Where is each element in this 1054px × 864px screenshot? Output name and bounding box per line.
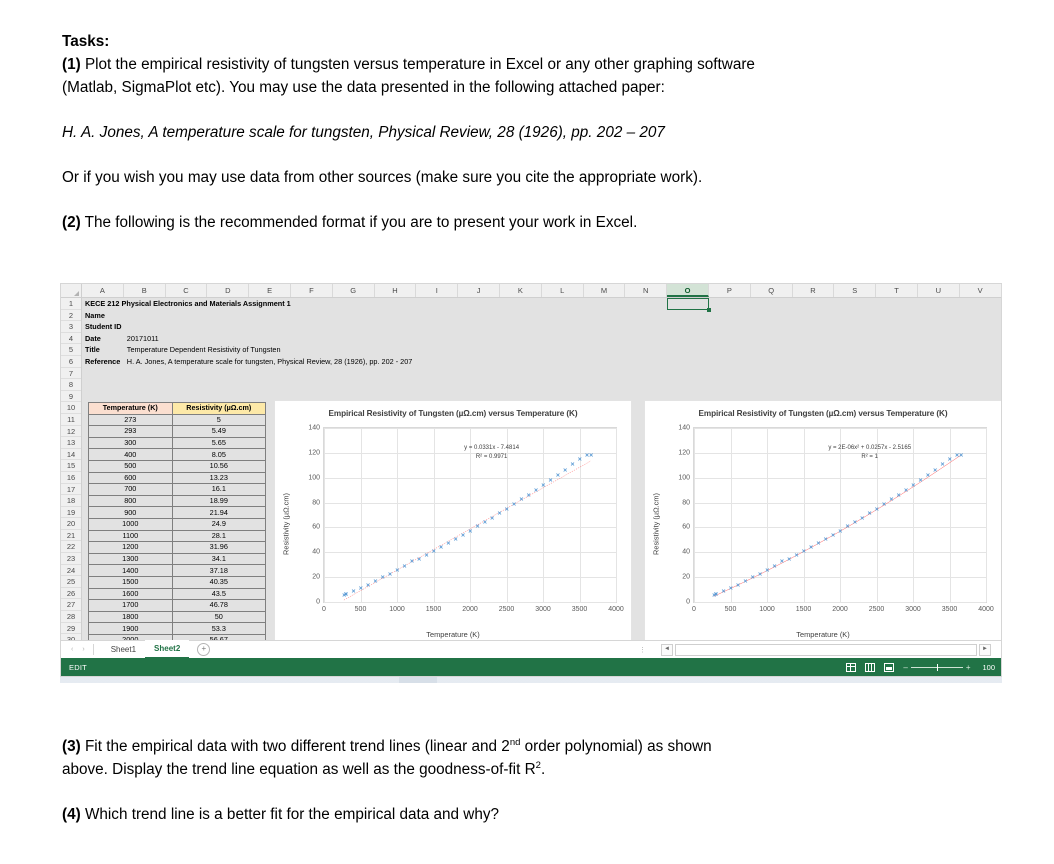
data-point: ✕ xyxy=(395,569,399,573)
column-header-r[interactable]: R xyxy=(793,284,835,297)
data-point: ✕ xyxy=(896,494,900,498)
cell-resistivity[interactable]: 43.5 xyxy=(172,588,265,600)
data-point: ✕ xyxy=(432,550,436,554)
grid-wrapper[interactable]: 1234567891011121314151617181920212223242… xyxy=(61,298,1001,647)
task-2-label: (2) xyxy=(62,214,81,231)
data-point: ✕ xyxy=(439,546,443,550)
cell-resistivity[interactable]: 28.1 xyxy=(172,530,265,542)
chart-polynomial-title: Empirical Resistivity of Tungsten (µΩ.cm… xyxy=(645,409,1001,418)
data-point: ✕ xyxy=(351,590,355,594)
row-header-21[interactable]: 21 xyxy=(61,530,81,542)
cell-resistivity[interactable]: 16.1 xyxy=(172,484,265,496)
alt-sources-note: Or if you wish you may use data from oth… xyxy=(62,166,1002,189)
data-point: ✕ xyxy=(410,560,414,564)
cell-temperature[interactable]: 293 xyxy=(89,426,173,438)
data-point: ✕ xyxy=(344,593,348,597)
data-point: ✕ xyxy=(853,521,857,525)
y-axis-tick: 100 xyxy=(308,474,320,481)
data-point: ✕ xyxy=(366,584,370,588)
data-point: ✕ xyxy=(889,498,893,502)
page-layout-view-icon[interactable] xyxy=(865,663,875,672)
zoom-out-icon[interactable]: – xyxy=(903,663,907,672)
sheet-tab-sheet2[interactable]: Sheet2 xyxy=(145,640,189,659)
task-1-paragraph: (1) Plot the empirical resistivity of tu… xyxy=(62,53,1002,76)
status-mode-text: EDIT xyxy=(69,663,87,672)
chart-polynomial-plot-area: 0204060801001201400500100015002000250030… xyxy=(693,427,987,603)
data-point: ✕ xyxy=(772,565,776,569)
table-row[interactable]: 160043.5 xyxy=(89,588,266,600)
cell-resistivity[interactable]: 37.18 xyxy=(172,565,265,577)
y-axis-tick: 40 xyxy=(312,549,320,556)
y-axis-tick: 140 xyxy=(678,425,690,432)
sheet-tab-sheet1[interactable]: Sheet1 xyxy=(102,641,145,658)
row-header-3[interactable]: 3 xyxy=(61,321,81,333)
column-header-j[interactable]: J xyxy=(458,284,500,297)
table-row[interactable]: 2735 xyxy=(89,414,266,426)
data-point: ✕ xyxy=(519,498,523,502)
column-header-i[interactable]: I xyxy=(416,284,458,297)
worksheet-grid[interactable]: KECE 212 Physical Electronics and Materi… xyxy=(82,298,1001,647)
data-point: ✕ xyxy=(388,573,392,577)
row-header-14[interactable]: 14 xyxy=(61,449,81,461)
x-axis-tick: 500 xyxy=(725,606,737,613)
data-point: ✕ xyxy=(736,584,740,588)
cell-temperature[interactable]: 273 xyxy=(89,414,173,426)
data-point: ✕ xyxy=(359,587,363,591)
r-squared-text: R² = 1 xyxy=(828,453,911,462)
data-point: ✕ xyxy=(461,534,465,538)
data-point: ✕ xyxy=(534,489,538,493)
column-header-m[interactable]: M xyxy=(584,284,626,297)
status-bar: EDIT – + 100 xyxy=(61,658,1001,676)
cell-temperature[interactable]: 800 xyxy=(89,495,173,507)
zoom-percent-label[interactable]: 100 xyxy=(982,663,995,672)
equation-text: y = 2E-06x² + 0.0257x - 2.5165 xyxy=(828,444,911,453)
y-axis-tick: 40 xyxy=(682,549,690,556)
y-axis-tick: 80 xyxy=(312,499,320,506)
column-header-v[interactable]: V xyxy=(960,284,1002,297)
page-break-preview-icon[interactable] xyxy=(884,663,894,672)
row-header-8[interactable]: 8 xyxy=(61,379,81,391)
row-header-5[interactable]: 5 xyxy=(61,344,81,356)
select-all-corner[interactable] xyxy=(61,284,82,297)
column-header-k[interactable]: K xyxy=(500,284,542,297)
data-point: ✕ xyxy=(497,512,501,516)
data-point: ✕ xyxy=(765,569,769,573)
task-1-line-1: Plot the empirical resistivity of tungst… xyxy=(81,56,755,73)
table-row[interactable]: 70016.1 xyxy=(89,484,266,496)
data-point: ✕ xyxy=(446,542,450,546)
x-axis-tick: 500 xyxy=(355,606,367,613)
y-axis-tick: 120 xyxy=(308,449,320,456)
data-point: ✕ xyxy=(911,484,915,488)
chart-linear-x-axis-label: Temperature (K) xyxy=(275,630,631,639)
data-point: ✕ xyxy=(750,576,754,580)
trendline-equation: y = 0.0331x - 7.4814R² = 0.9971 xyxy=(464,444,519,462)
data-point: ✕ xyxy=(831,534,835,538)
task-3-line-1b: order polynomial) as shown xyxy=(520,738,711,755)
data-point: ✕ xyxy=(556,474,560,478)
table-row[interactable]: 60013.23 xyxy=(89,472,266,484)
chart-linear-plot-area: 0204060801001201400500100015002000250030… xyxy=(323,427,617,603)
column-header-g[interactable]: G xyxy=(333,284,375,297)
column-header-e[interactable]: E xyxy=(249,284,291,297)
cell-resistivity[interactable]: 5.49 xyxy=(172,426,265,438)
data-point: ✕ xyxy=(721,590,725,594)
cell-temperature[interactable]: 1200 xyxy=(89,542,173,554)
data-point: ✕ xyxy=(918,479,922,483)
column-header-u[interactable]: U xyxy=(918,284,960,297)
data-point: ✕ xyxy=(589,454,593,458)
table-row[interactable]: 50010.56 xyxy=(89,460,266,472)
row-header-11[interactable]: 11 xyxy=(61,414,81,426)
data-point: ✕ xyxy=(743,580,747,584)
cell-temperature[interactable]: 1400 xyxy=(89,565,173,577)
table-row[interactable]: 130034.1 xyxy=(89,553,266,565)
row-header-9[interactable]: 9 xyxy=(61,391,81,403)
column-header-resistivity: Resistivity (µΩ.cm) xyxy=(172,403,265,415)
data-point: ✕ xyxy=(578,458,582,462)
data-point: ✕ xyxy=(802,550,806,554)
cell-B4[interactable]: 20171011 xyxy=(127,333,159,345)
scroll-right-icon[interactable]: ► xyxy=(979,644,991,656)
column-header-h[interactable]: H xyxy=(375,284,417,297)
data-point: ✕ xyxy=(417,558,421,562)
column-header-t[interactable]: T xyxy=(876,284,918,297)
column-header-a[interactable]: A xyxy=(82,284,124,297)
row-header-4[interactable]: 4 xyxy=(61,333,81,345)
data-point: ✕ xyxy=(940,463,944,467)
x-axis-tick: 2500 xyxy=(869,606,885,613)
x-axis-tick: 2500 xyxy=(499,606,515,613)
row-header-12[interactable]: 12 xyxy=(61,426,81,438)
x-axis-tick: 4000 xyxy=(608,606,624,613)
task-3-line-1: Fit the empirical data with two differen… xyxy=(81,738,510,755)
split-handle-icon[interactable]: ⋮ xyxy=(639,646,646,654)
zoom-in-icon[interactable]: + xyxy=(966,663,971,672)
data-point: ✕ xyxy=(787,558,791,562)
data-point: ✕ xyxy=(816,542,820,546)
column-header-c[interactable]: C xyxy=(166,284,208,297)
row-header-13[interactable]: 13 xyxy=(61,437,81,449)
taskbar-sliver xyxy=(60,677,1002,683)
cell-temperature[interactable]: 1000 xyxy=(89,518,173,530)
data-point: ✕ xyxy=(714,593,718,597)
data-point: ✕ xyxy=(780,560,784,564)
task-3-line-2: above. Display the trend line equation a… xyxy=(62,758,1002,781)
cell-resistivity[interactable]: 8.05 xyxy=(172,449,265,461)
table-row[interactable]: 90021.94 xyxy=(89,507,266,519)
y-axis-tick: 20 xyxy=(312,574,320,581)
chart-linear[interactable]: Empirical Resistivity of Tungsten (µΩ.cm… xyxy=(274,400,632,647)
cell-resistivity[interactable]: 13.23 xyxy=(172,472,265,484)
task-4-paragraph: (4) Which trend line is a better fit for… xyxy=(62,803,1002,826)
y-axis-tick: 0 xyxy=(686,599,690,606)
data-point: ✕ xyxy=(570,463,574,467)
row-header-22[interactable]: 22 xyxy=(61,541,81,553)
row-header-23[interactable]: 23 xyxy=(61,553,81,565)
x-axis-tick: 4000 xyxy=(978,606,994,613)
cell-temperature[interactable]: 300 xyxy=(89,437,173,449)
document-body-lower: (3) Fit the empirical data with two diff… xyxy=(62,735,1002,826)
gridline-horizontal xyxy=(694,602,986,603)
x-axis-tick: 3500 xyxy=(942,606,958,613)
data-table[interactable]: Temperature (K) Resistivity (µΩ.cm) 2735… xyxy=(88,402,266,647)
cell-temperature[interactable]: 1100 xyxy=(89,530,173,542)
cell-A1[interactable]: KECE 212 Physical Electronics and Materi… xyxy=(85,298,291,310)
task-1-line-2: (Matlab, SigmaPlot etc). You may use the… xyxy=(62,76,1002,99)
data-point: ✕ xyxy=(563,469,567,473)
task-3-paragraph: (3) Fit the empirical data with two diff… xyxy=(62,735,1002,758)
table-row[interactable]: 2935.49 xyxy=(89,426,266,438)
column-header-q[interactable]: Q xyxy=(751,284,793,297)
cell-temperature[interactable]: 500 xyxy=(89,460,173,472)
row-header-column[interactable]: 1234567891011121314151617181920212223242… xyxy=(61,298,82,647)
data-point: ✕ xyxy=(424,554,428,558)
column-header-o[interactable]: O xyxy=(667,284,709,297)
zoom-handle[interactable] xyxy=(937,664,939,671)
chart-polynomial[interactable]: Empirical Resistivity of Tungsten (µΩ.cm… xyxy=(644,400,1001,647)
row-header-25[interactable]: 25 xyxy=(61,576,81,588)
table-row[interactable]: 170046.78 xyxy=(89,600,266,612)
chart-linear-y-axis-label: Resistivity (µΩ.cm) xyxy=(282,464,291,584)
cell-resistivity[interactable]: 24.9 xyxy=(172,518,265,530)
cell-resistivity[interactable]: 18.99 xyxy=(172,495,265,507)
row-header-10[interactable]: 10 xyxy=(61,402,81,414)
column-header-temperature: Temperature (K) xyxy=(89,403,173,415)
cell-A2[interactable]: Name xyxy=(85,310,105,322)
cell-temperature[interactable]: 1900 xyxy=(89,623,173,635)
table-row[interactable]: 110028.1 xyxy=(89,530,266,542)
chart-linear-title: Empirical Resistivity of Tungsten (µΩ.cm… xyxy=(275,409,631,418)
cell-A3[interactable]: Student ID xyxy=(85,321,121,333)
table-header-row: Temperature (K) Resistivity (µΩ.cm) xyxy=(89,403,266,415)
cell-temperature[interactable]: 1700 xyxy=(89,600,173,612)
gridline-vertical xyxy=(616,428,617,602)
row-header-27[interactable]: 27 xyxy=(61,599,81,611)
column-header-b[interactable]: B xyxy=(124,284,166,297)
active-cell-selection[interactable] xyxy=(667,298,709,310)
excel-window[interactable]: ABCDEFGHIJKLMNOPQRSTUV 12345678910111213… xyxy=(60,283,1002,677)
horizontal-scrollbar[interactable]: ◄ ► xyxy=(661,644,991,655)
x-axis-tick: 1500 xyxy=(796,606,812,613)
cell-resistivity[interactable]: 5.65 xyxy=(172,437,265,449)
data-point: ✕ xyxy=(453,538,457,542)
data-point: ✕ xyxy=(882,503,886,507)
x-axis-tick: 3000 xyxy=(535,606,551,613)
x-axis-tick: 1500 xyxy=(426,606,442,613)
table-row[interactable]: 190053.3 xyxy=(89,623,266,635)
table-row[interactable]: 180050 xyxy=(89,611,266,623)
cell-temperature[interactable]: 1500 xyxy=(89,576,173,588)
sheet-nav-arrows[interactable]: ‹ › xyxy=(71,646,85,653)
cell-A5[interactable]: Title xyxy=(85,344,100,356)
y-axis-tick: 0 xyxy=(316,599,320,606)
task-3-line-2-text: above. Display the trend line equation a… xyxy=(62,761,536,778)
cell-temperature[interactable]: 1600 xyxy=(89,588,173,600)
table-row[interactable]: 100024.9 xyxy=(89,518,266,530)
data-point: ✕ xyxy=(933,469,937,473)
page-title: Tasks: xyxy=(62,30,1002,53)
task-3-superscript-nd: nd xyxy=(510,737,521,748)
x-axis-tick: 2000 xyxy=(832,606,848,613)
data-point: ✕ xyxy=(490,517,494,521)
data-point: ✕ xyxy=(758,573,762,577)
cell-resistivity[interactable]: 40.35 xyxy=(172,576,265,588)
cell-temperature[interactable]: 700 xyxy=(89,484,173,496)
column-header-row[interactable]: ABCDEFGHIJKLMNOPQRSTUV xyxy=(61,284,1001,298)
row-header-26[interactable]: 26 xyxy=(61,588,81,600)
cell-A6[interactable]: Reference xyxy=(85,356,120,368)
cell-temperature[interactable]: 1800 xyxy=(89,611,173,623)
data-point: ✕ xyxy=(505,508,509,512)
x-axis-tick: 2000 xyxy=(462,606,478,613)
row-header-20[interactable]: 20 xyxy=(61,518,81,530)
table-row[interactable]: 120031.96 xyxy=(89,542,266,554)
data-point: ✕ xyxy=(809,546,813,550)
x-axis-tick: 1000 xyxy=(759,606,775,613)
normal-view-icon[interactable] xyxy=(846,663,856,672)
cell-A4[interactable]: Date xyxy=(85,333,101,345)
trendline-equation: y = 2E-06x² + 0.0257x - 2.5165R² = 1 xyxy=(828,444,911,462)
task-3-line-2b: . xyxy=(541,761,545,778)
table-body: 27352935.493005.654008.0550010.5660013.2… xyxy=(89,414,266,647)
x-axis-tick: 0 xyxy=(322,606,326,613)
chart-polynomial-y-axis-label: Resistivity (µΩ.cm) xyxy=(652,464,661,584)
x-axis-tick: 1000 xyxy=(389,606,405,613)
cell-temperature[interactable]: 1300 xyxy=(89,553,173,565)
data-point: ✕ xyxy=(959,454,963,458)
x-axis-tick: 0 xyxy=(692,606,696,613)
cell-resistivity[interactable]: 50 xyxy=(172,611,265,623)
data-point: ✕ xyxy=(373,580,377,584)
zoom-track[interactable] xyxy=(911,667,963,668)
data-point: ✕ xyxy=(926,474,930,478)
prev-sheet-icon[interactable]: ‹ xyxy=(71,646,73,653)
y-axis-tick: 20 xyxy=(682,574,690,581)
add-sheet-icon[interactable]: + xyxy=(197,643,210,656)
cell-B6[interactable]: H. A. Jones, A temperature scale for tun… xyxy=(127,356,413,368)
cell-resistivity[interactable]: 53.3 xyxy=(172,623,265,635)
next-sheet-icon[interactable]: › xyxy=(82,646,84,653)
data-point: ✕ xyxy=(867,512,871,516)
data-point: ✕ xyxy=(402,565,406,569)
status-bar-right[interactable]: – + 100 xyxy=(846,663,995,672)
column-header-f[interactable]: F xyxy=(291,284,333,297)
tab-separator xyxy=(93,644,94,655)
citation: H. A. Jones, A temperature scale for tun… xyxy=(62,121,1002,144)
r-squared-text: R² = 0.9971 xyxy=(464,453,519,462)
cell-resistivity[interactable]: 34.1 xyxy=(172,553,265,565)
gridline-horizontal xyxy=(324,602,616,603)
chart-polynomial-x-axis-label: Temperature (K) xyxy=(645,630,1001,639)
column-header-d[interactable]: D xyxy=(207,284,249,297)
row-header-29[interactable]: 29 xyxy=(61,623,81,635)
data-point: ✕ xyxy=(380,576,384,580)
scroll-track[interactable] xyxy=(675,644,977,656)
task-3-label: (3) xyxy=(62,738,81,755)
data-point: ✕ xyxy=(823,538,827,542)
data-point: ✕ xyxy=(948,458,952,462)
data-point: ✕ xyxy=(794,554,798,558)
data-point: ✕ xyxy=(875,508,879,512)
task-2-text: The following is the recommended format … xyxy=(81,214,638,231)
scroll-left-icon[interactable]: ◄ xyxy=(661,644,673,656)
y-axis-tick: 60 xyxy=(682,524,690,531)
cell-temperature[interactable]: 400 xyxy=(89,449,173,461)
y-axis-tick: 140 xyxy=(308,425,320,432)
table-row[interactable]: 3005.65 xyxy=(89,437,266,449)
column-header-l[interactable]: L xyxy=(542,284,584,297)
table-row[interactable]: 150040.35 xyxy=(89,576,266,588)
y-axis-tick: 100 xyxy=(678,474,690,481)
cell-temperature[interactable]: 600 xyxy=(89,472,173,484)
row-header-19[interactable]: 19 xyxy=(61,507,81,519)
cell-resistivity[interactable]: 21.94 xyxy=(172,507,265,519)
data-point: ✕ xyxy=(541,484,545,488)
task-4-text: Which trend line is a better fit for the… xyxy=(81,806,499,823)
task-4-label: (4) xyxy=(62,806,81,823)
cell-resistivity[interactable]: 10.56 xyxy=(172,460,265,472)
cell-temperature[interactable]: 900 xyxy=(89,507,173,519)
row-header-15[interactable]: 15 xyxy=(61,460,81,472)
row-header-1[interactable]: 1 xyxy=(61,298,81,310)
row-header-16[interactable]: 16 xyxy=(61,472,81,484)
data-point: ✕ xyxy=(845,525,849,529)
data-point: ✕ xyxy=(526,494,530,498)
table-row[interactable]: 4008.05 xyxy=(89,449,266,461)
column-header-n[interactable]: N xyxy=(625,284,667,297)
task-2-paragraph: (2) The following is the recommended for… xyxy=(62,211,1002,234)
column-header-p[interactable]: P xyxy=(709,284,751,297)
data-point: ✕ xyxy=(512,503,516,507)
y-axis-tick: 60 xyxy=(312,524,320,531)
data-point: ✕ xyxy=(468,530,472,534)
cell-resistivity[interactable]: 5 xyxy=(172,414,265,426)
x-axis-tick: 3000 xyxy=(905,606,921,613)
x-axis-tick: 3500 xyxy=(572,606,588,613)
document-body: Tasks: (1) Plot the empirical resistivit… xyxy=(62,30,1002,234)
row-header-18[interactable]: 18 xyxy=(61,495,81,507)
y-axis-tick: 120 xyxy=(678,449,690,456)
cell-resistivity[interactable]: 31.96 xyxy=(172,542,265,554)
row-header-17[interactable]: 17 xyxy=(61,484,81,496)
row-header-28[interactable]: 28 xyxy=(61,611,81,623)
column-header-s[interactable]: S xyxy=(834,284,876,297)
gridline-vertical xyxy=(986,428,987,602)
data-point: ✕ xyxy=(838,530,842,534)
cell-resistivity[interactable]: 46.78 xyxy=(172,600,265,612)
row-header-6[interactable]: 6 xyxy=(61,356,81,368)
row-header-2[interactable]: 2 xyxy=(61,310,81,322)
data-point: ✕ xyxy=(475,525,479,529)
row-header-24[interactable]: 24 xyxy=(61,565,81,577)
task-1-label: (1) xyxy=(62,56,81,73)
row-header-7[interactable]: 7 xyxy=(61,368,81,380)
data-point: ✕ xyxy=(483,521,487,525)
y-axis-tick: 80 xyxy=(682,499,690,506)
data-point: ✕ xyxy=(904,489,908,493)
zoom-slider[interactable]: – + xyxy=(903,663,970,672)
sheet-tab-bar[interactable]: ‹ › Sheet1 Sheet2 + ⋮ ◄ ► xyxy=(61,640,1001,658)
equation-text: y = 0.0331x - 7.4814 xyxy=(464,444,519,453)
data-point: ✕ xyxy=(729,587,733,591)
table-row[interactable]: 140037.18 xyxy=(89,565,266,577)
data-point: ✕ xyxy=(860,517,864,521)
table-row[interactable]: 80018.99 xyxy=(89,495,266,507)
data-point: ✕ xyxy=(548,479,552,483)
cell-B5[interactable]: Temperature Dependent Resistivity of Tun… xyxy=(127,344,281,356)
